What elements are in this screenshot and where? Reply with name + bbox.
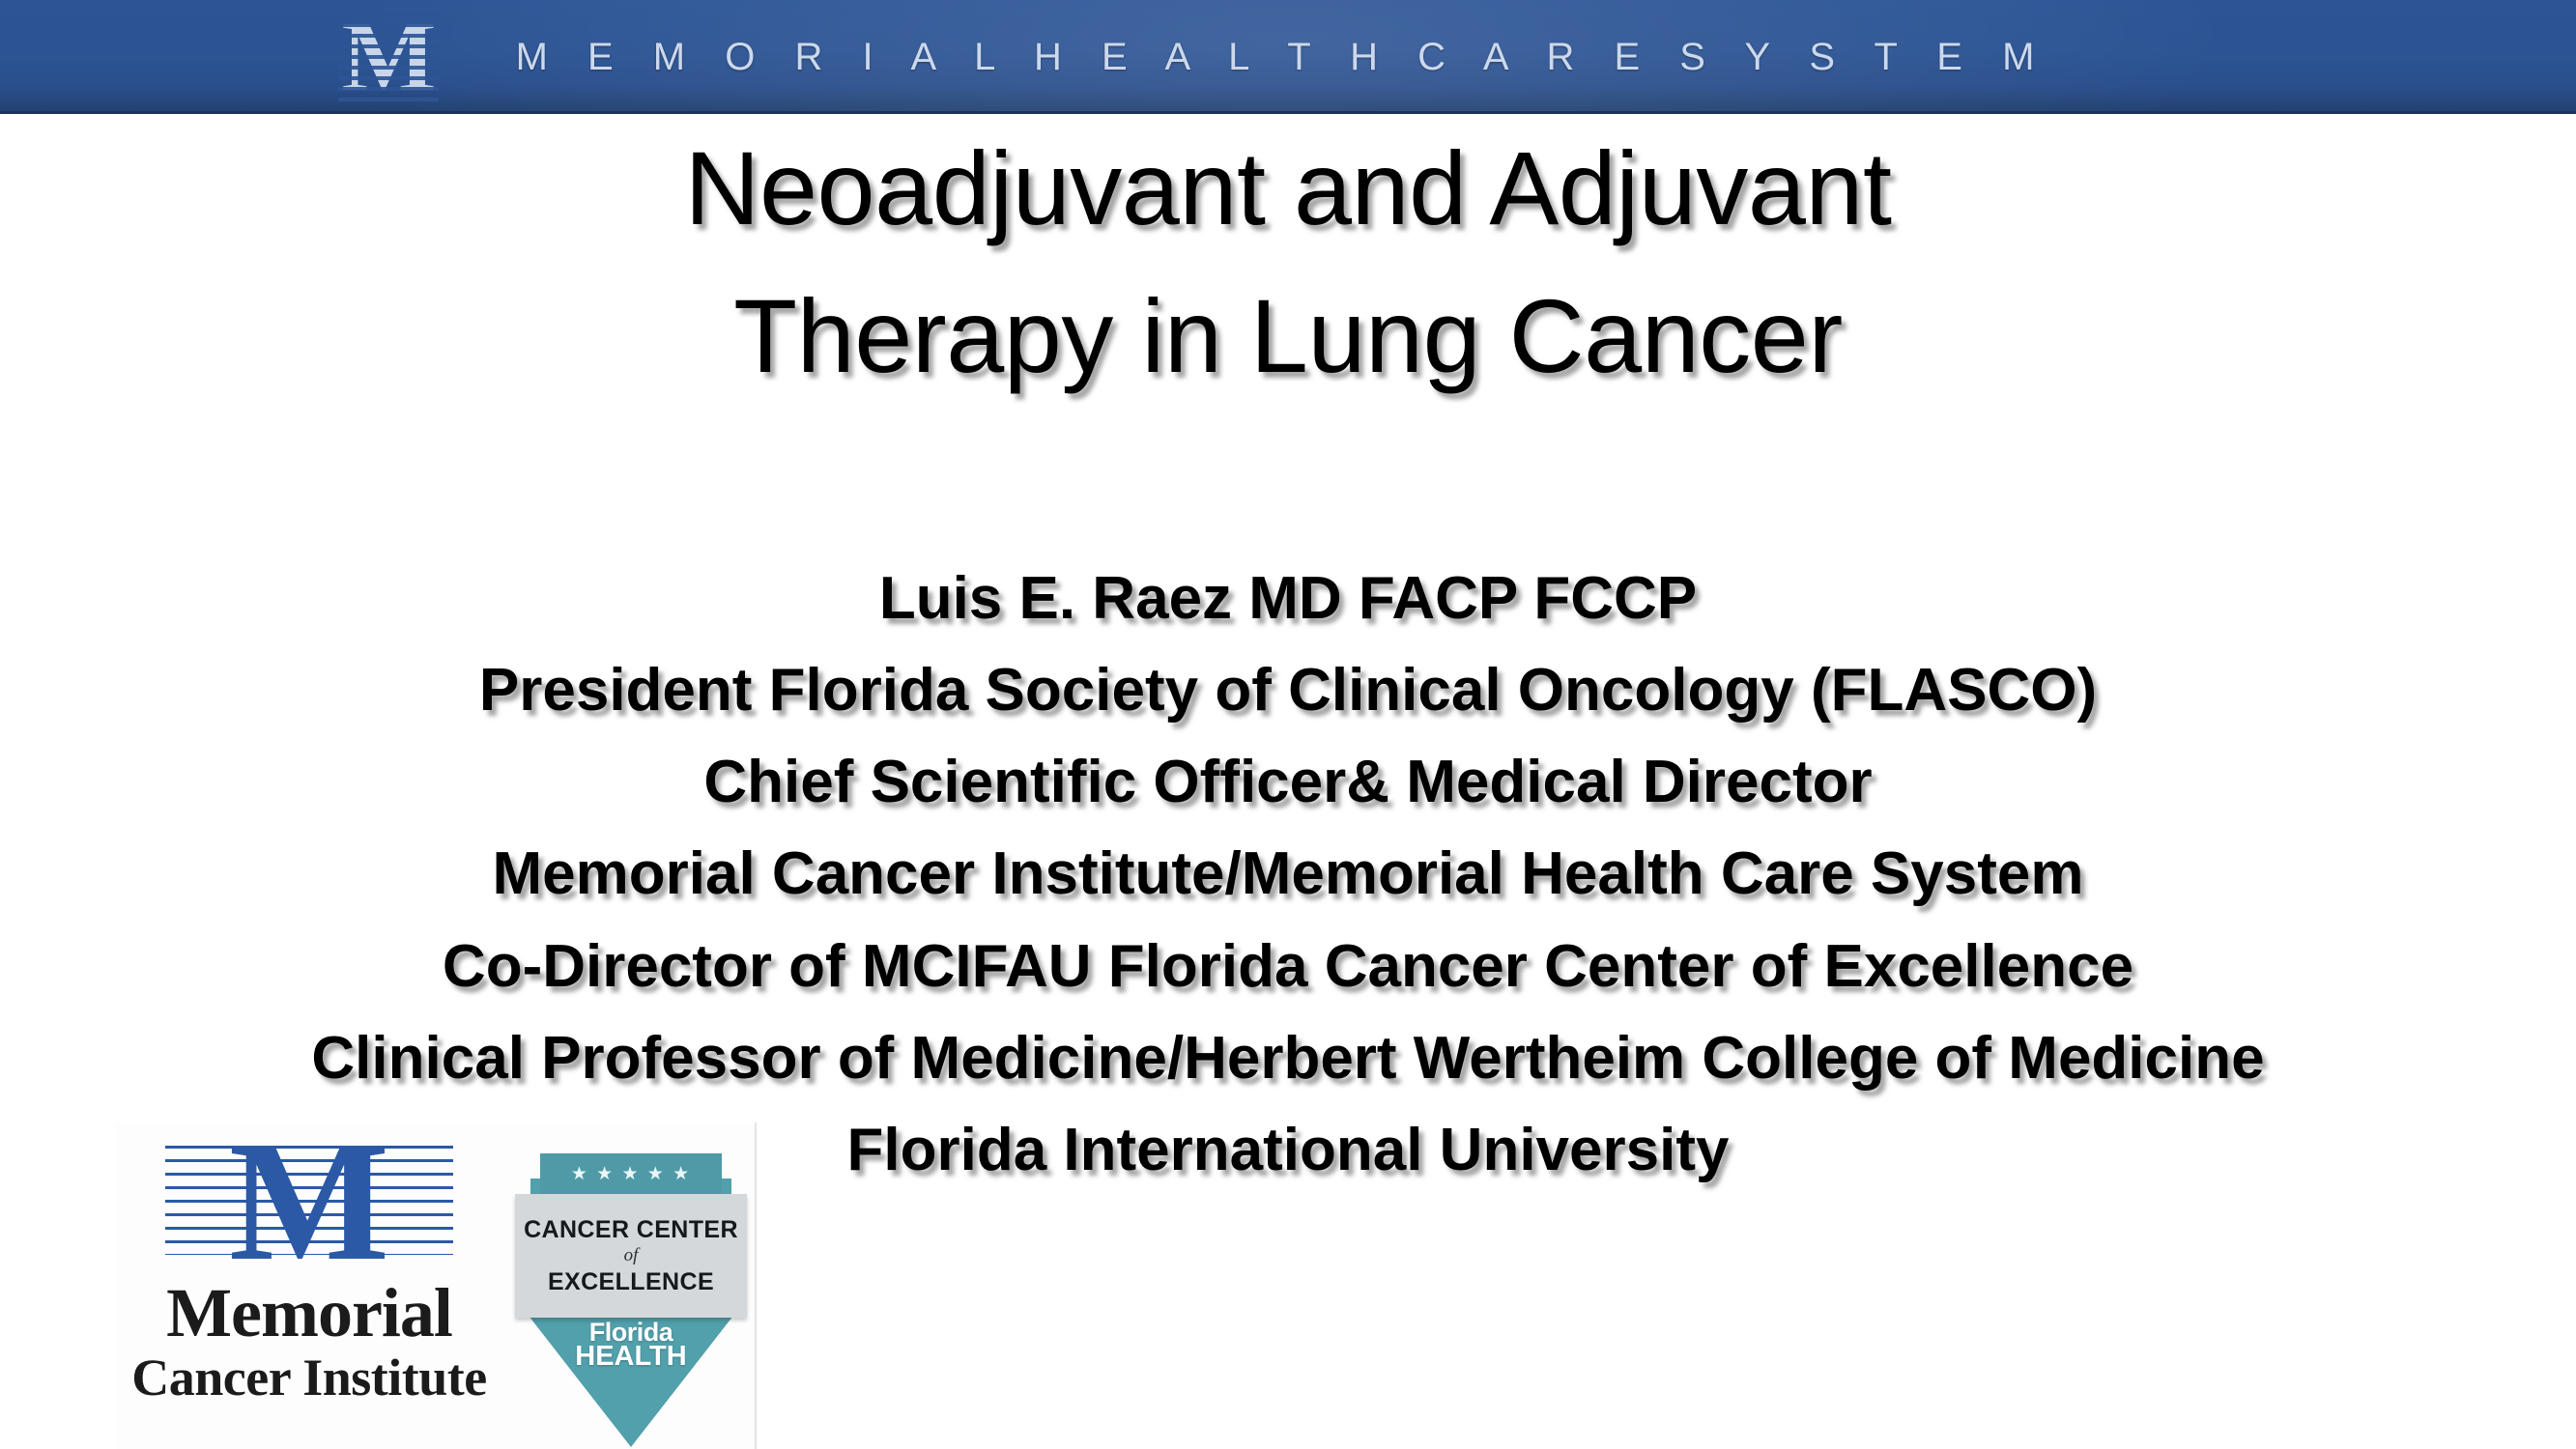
badge-center-panel: CANCER CENTER of EXCELLENCE xyxy=(515,1194,747,1318)
organization-name: M E M O R I A L H E A L T H C A R E S Y … xyxy=(516,36,2049,79)
header-banner-content: M M E M O R I A L H E A L T H C A R E S … xyxy=(338,13,2049,101)
badge-line-cancer-center: CANCER CENTER xyxy=(524,1215,738,1244)
memorial-cancer-institute-m-icon: M xyxy=(159,1132,459,1272)
page-title: Neoadjuvant and Adjuvant Therapy in Lung… xyxy=(0,114,2576,411)
memorial-cancer-institute-word-cancer-institute: Cancer Institute xyxy=(116,1350,502,1406)
badge-line-excellence: EXCELLENCE xyxy=(548,1267,714,1296)
presentation-slide: M M E M O R I A L H E A L T H C A R E S … xyxy=(0,0,2576,1449)
page-title-line-2: Therapy in Lung Cancer xyxy=(0,262,2576,410)
presenter-credentials: Luis E. Raez MD FACP FCCP President Flor… xyxy=(0,553,2576,1196)
memorial-m-logo-icon: M xyxy=(338,13,439,101)
memorial-cancer-institute-logo: M Memorial Cancer Institute xyxy=(116,1122,502,1422)
badge-stars-icon: ★ ★ ★ ★ ★ xyxy=(540,1153,722,1194)
page-title-line-1: Neoadjuvant and Adjuvant xyxy=(0,114,2576,262)
memorial-cancer-institute-m-letter: M xyxy=(159,1132,459,1272)
credential-line-6: Clinical Professor of Medicine/Herbert W… xyxy=(0,1012,2576,1104)
presenter-name: Luis E. Raez MD FACP FCCP xyxy=(0,553,2576,644)
footer-logo-group: M Memorial Cancer Institute ★ ★ ★ ★ ★ CA… xyxy=(116,1122,757,1449)
memorial-m-logo-letter: M xyxy=(338,13,439,101)
credential-line-4: Memorial Cancer Institute/Memorial Healt… xyxy=(0,828,2576,920)
florida-health-word-health: HEALTH xyxy=(515,1343,747,1371)
badge-line-of: of xyxy=(624,1244,639,1267)
cancer-center-of-excellence-badge: ★ ★ ★ ★ ★ CANCER CENTER of EXCELLENCE Fl… xyxy=(515,1128,747,1449)
florida-health-logo: Florida HEALTH xyxy=(515,1320,747,1371)
header-banner: M M E M O R I A L H E A L T H C A R E S … xyxy=(0,0,2576,114)
credential-line-3: Chief Scientific Officer& Medical Direct… xyxy=(0,736,2576,828)
credential-line-5: Co-Director of MCIFAU Florida Cancer Cen… xyxy=(0,921,2576,1012)
credential-line-2: President Florida Society of Clinical On… xyxy=(0,644,2576,736)
